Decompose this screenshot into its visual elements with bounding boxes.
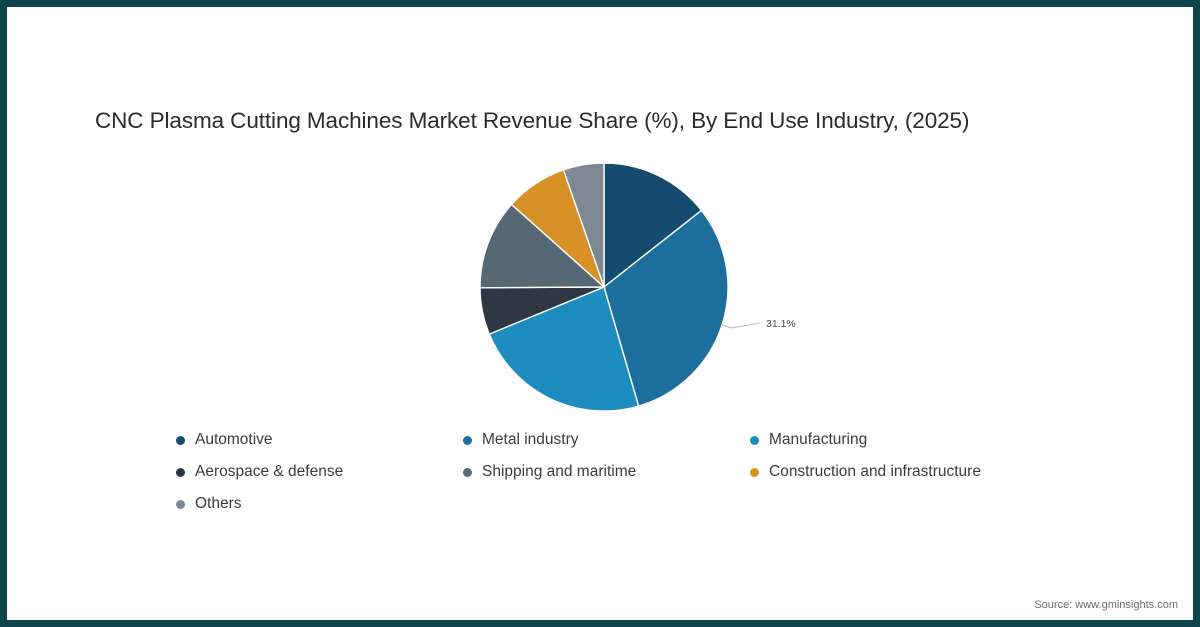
legend-item-label: Automotive — [195, 431, 273, 449]
source-attribution: Source: www.gminsights.com — [1034, 599, 1178, 611]
legend-item-label: Others — [195, 495, 242, 513]
legend-color-swatch-icon — [176, 468, 185, 477]
legend-item[interactable]: Construction and infrastructure — [750, 456, 1076, 488]
legend-color-swatch-icon — [176, 500, 185, 509]
legend-color-swatch-icon — [750, 468, 759, 477]
legend-item-label: Shipping and maritime — [482, 463, 636, 481]
pie-slice-group — [480, 163, 728, 411]
legend-item[interactable]: Metal industry — [463, 424, 750, 456]
legend-item[interactable]: Others — [176, 488, 463, 520]
legend-item[interactable]: Shipping and maritime — [463, 456, 750, 488]
legend-item-label: Aerospace & defense — [195, 463, 343, 481]
legend-row: Others — [176, 488, 1076, 520]
chart-page: CNC Plasma Cutting Machines Market Reven… — [0, 0, 1200, 627]
callout-leader-line — [722, 323, 760, 328]
legend-item[interactable]: Aerospace & defense — [176, 456, 463, 488]
legend-item-label: Construction and infrastructure — [769, 463, 981, 481]
legend-item[interactable]: Manufacturing — [750, 424, 1076, 456]
legend-row: Aerospace & defenseShipping and maritime… — [176, 456, 1076, 488]
legend-color-swatch-icon — [463, 436, 472, 445]
legend-color-swatch-icon — [750, 436, 759, 445]
legend-item-label: Metal industry — [482, 431, 578, 449]
pie-callout-group: 31.1% — [722, 318, 796, 330]
legend-item-label: Manufacturing — [769, 431, 867, 449]
legend-row: AutomotiveMetal industryManufacturing — [176, 424, 1076, 456]
chart-legend: AutomotiveMetal industryManufacturingAer… — [176, 424, 1076, 520]
pie-chart: 31.1% — [0, 0, 1200, 627]
legend-item[interactable]: Automotive — [176, 424, 463, 456]
legend-color-swatch-icon — [176, 436, 185, 445]
legend-color-swatch-icon — [463, 468, 472, 477]
slice-value-label: 31.1% — [766, 318, 796, 330]
